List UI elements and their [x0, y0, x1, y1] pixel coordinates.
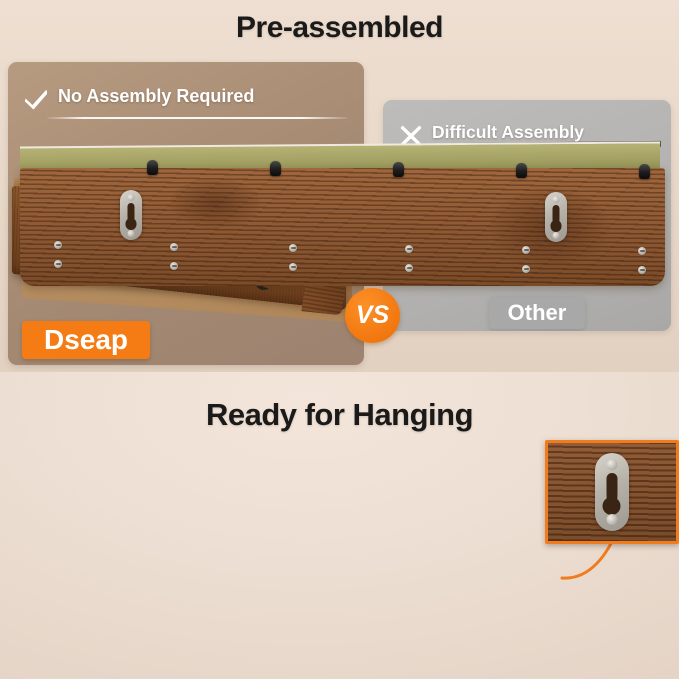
versus-badge: VS	[345, 288, 400, 343]
mounting-screw	[54, 241, 62, 249]
product-infographic: Pre-assembled	[0, 0, 679, 679]
keyhole-hanger-bracket	[545, 192, 567, 242]
hook-base-nub	[639, 164, 650, 179]
hook-base-nub	[270, 161, 281, 176]
mounting-screw	[405, 245, 413, 253]
brand-badge-dseap: Dseap	[22, 321, 150, 359]
bracket-screw	[607, 459, 618, 470]
competitor-badge-other: Other	[489, 296, 585, 329]
bracket-screw	[128, 194, 135, 201]
hook-base-nub	[393, 162, 404, 177]
mounting-screw	[54, 260, 62, 268]
left-panel-heading-row: No Assembly Required	[24, 86, 254, 115]
mounting-screw	[638, 266, 646, 274]
keyhole-hanger-bracket-zoomed	[595, 453, 629, 531]
mounting-screw	[170, 262, 178, 270]
mounting-screw	[405, 264, 413, 272]
check-icon	[24, 88, 49, 115]
left-panel-divider	[47, 117, 347, 119]
mounting-screw	[638, 247, 646, 255]
page-title-ready-for-hanging: Ready for Hanging	[0, 396, 679, 434]
product-photo-rack-back	[6, 140, 672, 290]
keyhole-slot	[553, 205, 560, 231]
keyhole-slot	[128, 203, 135, 229]
left-panel-heading: No Assembly Required	[58, 86, 254, 107]
mounting-screw	[522, 265, 530, 273]
hook-base-nub	[147, 160, 158, 175]
page-title-pre-assembled: Pre-assembled	[0, 10, 679, 46]
bracket-screw	[128, 230, 135, 237]
keyhole-bracket-zoom-callout	[545, 440, 679, 544]
bracket-screw	[553, 196, 560, 203]
keyhole-slot	[607, 473, 618, 513]
bracket-screw	[607, 514, 618, 525]
keyhole-hanger-bracket	[120, 190, 142, 240]
mounting-screw	[289, 263, 297, 271]
wood-knot	[170, 178, 260, 228]
hook-base-nub	[516, 163, 527, 178]
bracket-screw	[553, 232, 560, 239]
rack-back-board	[20, 168, 665, 286]
mounting-screw	[170, 243, 178, 251]
mounting-screw	[522, 246, 530, 254]
mounting-screw	[289, 244, 297, 252]
